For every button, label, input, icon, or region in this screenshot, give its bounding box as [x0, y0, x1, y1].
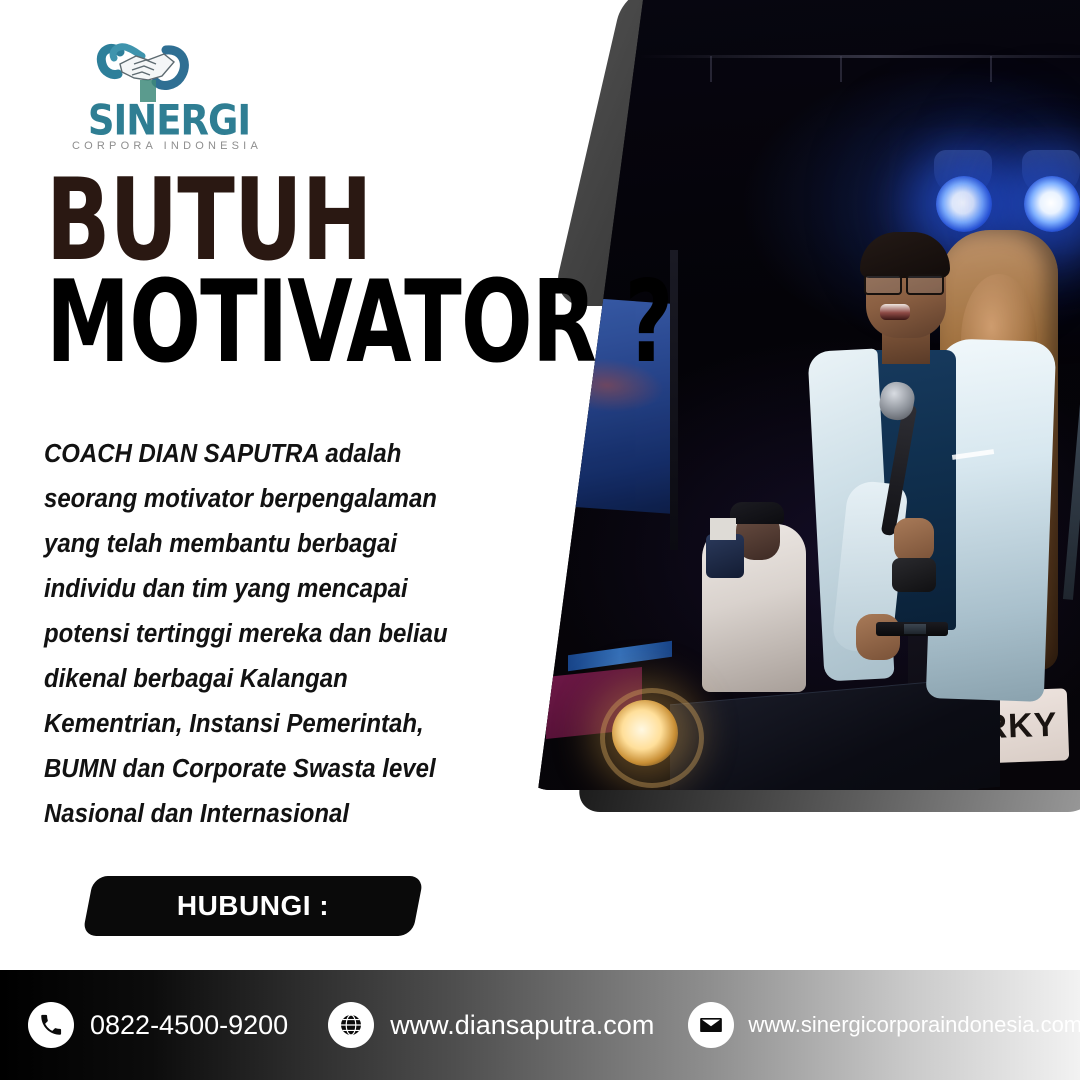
footer-website-url: www.diansaputra.com [390, 1010, 654, 1041]
brand-logo: SINERGI CORPORA INDONESIA [46, 36, 306, 158]
cameraman [702, 482, 806, 692]
contact-footer: 0822-4500-9200 www.diansaputra.com [0, 970, 1080, 1080]
phone-icon [28, 1002, 74, 1048]
truss-drop [990, 56, 992, 82]
footer-email-url: www.sinergicorporaindonesia.com [748, 1012, 1080, 1038]
contact-cta[interactable]: HUBUNGI : [88, 876, 418, 936]
footer-item-email[interactable]: www.sinergicorporaindonesia.com [688, 1002, 1080, 1048]
truss-drop [840, 56, 842, 82]
body-paragraph: COACH DIAN SAPUTRA adalah seorang motiva… [44, 432, 458, 837]
lighting-truss [640, 55, 1080, 58]
truss-drop [710, 56, 712, 82]
footer-item-website[interactable]: www.diansaputra.com [328, 1002, 654, 1048]
page-title: BUTUH MOTIVATOR ? [46, 168, 758, 359]
logo-tagline: CORPORA INDONESIA [52, 140, 282, 152]
logo-wordmark: SINERGI [46, 98, 292, 143]
stage-light-left [936, 176, 992, 232]
stage-light-right [1024, 176, 1080, 232]
floor-light [612, 700, 678, 766]
footer-item-phone[interactable]: 0822-4500-9200 [28, 1002, 288, 1048]
hubungi-button[interactable]: HUBUNGI : [82, 876, 424, 936]
speaker-figure [820, 232, 1070, 790]
poster-canvas: RKY [0, 0, 1080, 1080]
footer-phone-number: 0822-4500-9200 [90, 1010, 288, 1041]
hubungi-button-label: HUBUNGI : [88, 876, 418, 936]
headline-line-2: MOTIVATOR ? [46, 270, 673, 374]
globe-icon [328, 1002, 374, 1048]
envelope-icon [688, 1002, 734, 1048]
